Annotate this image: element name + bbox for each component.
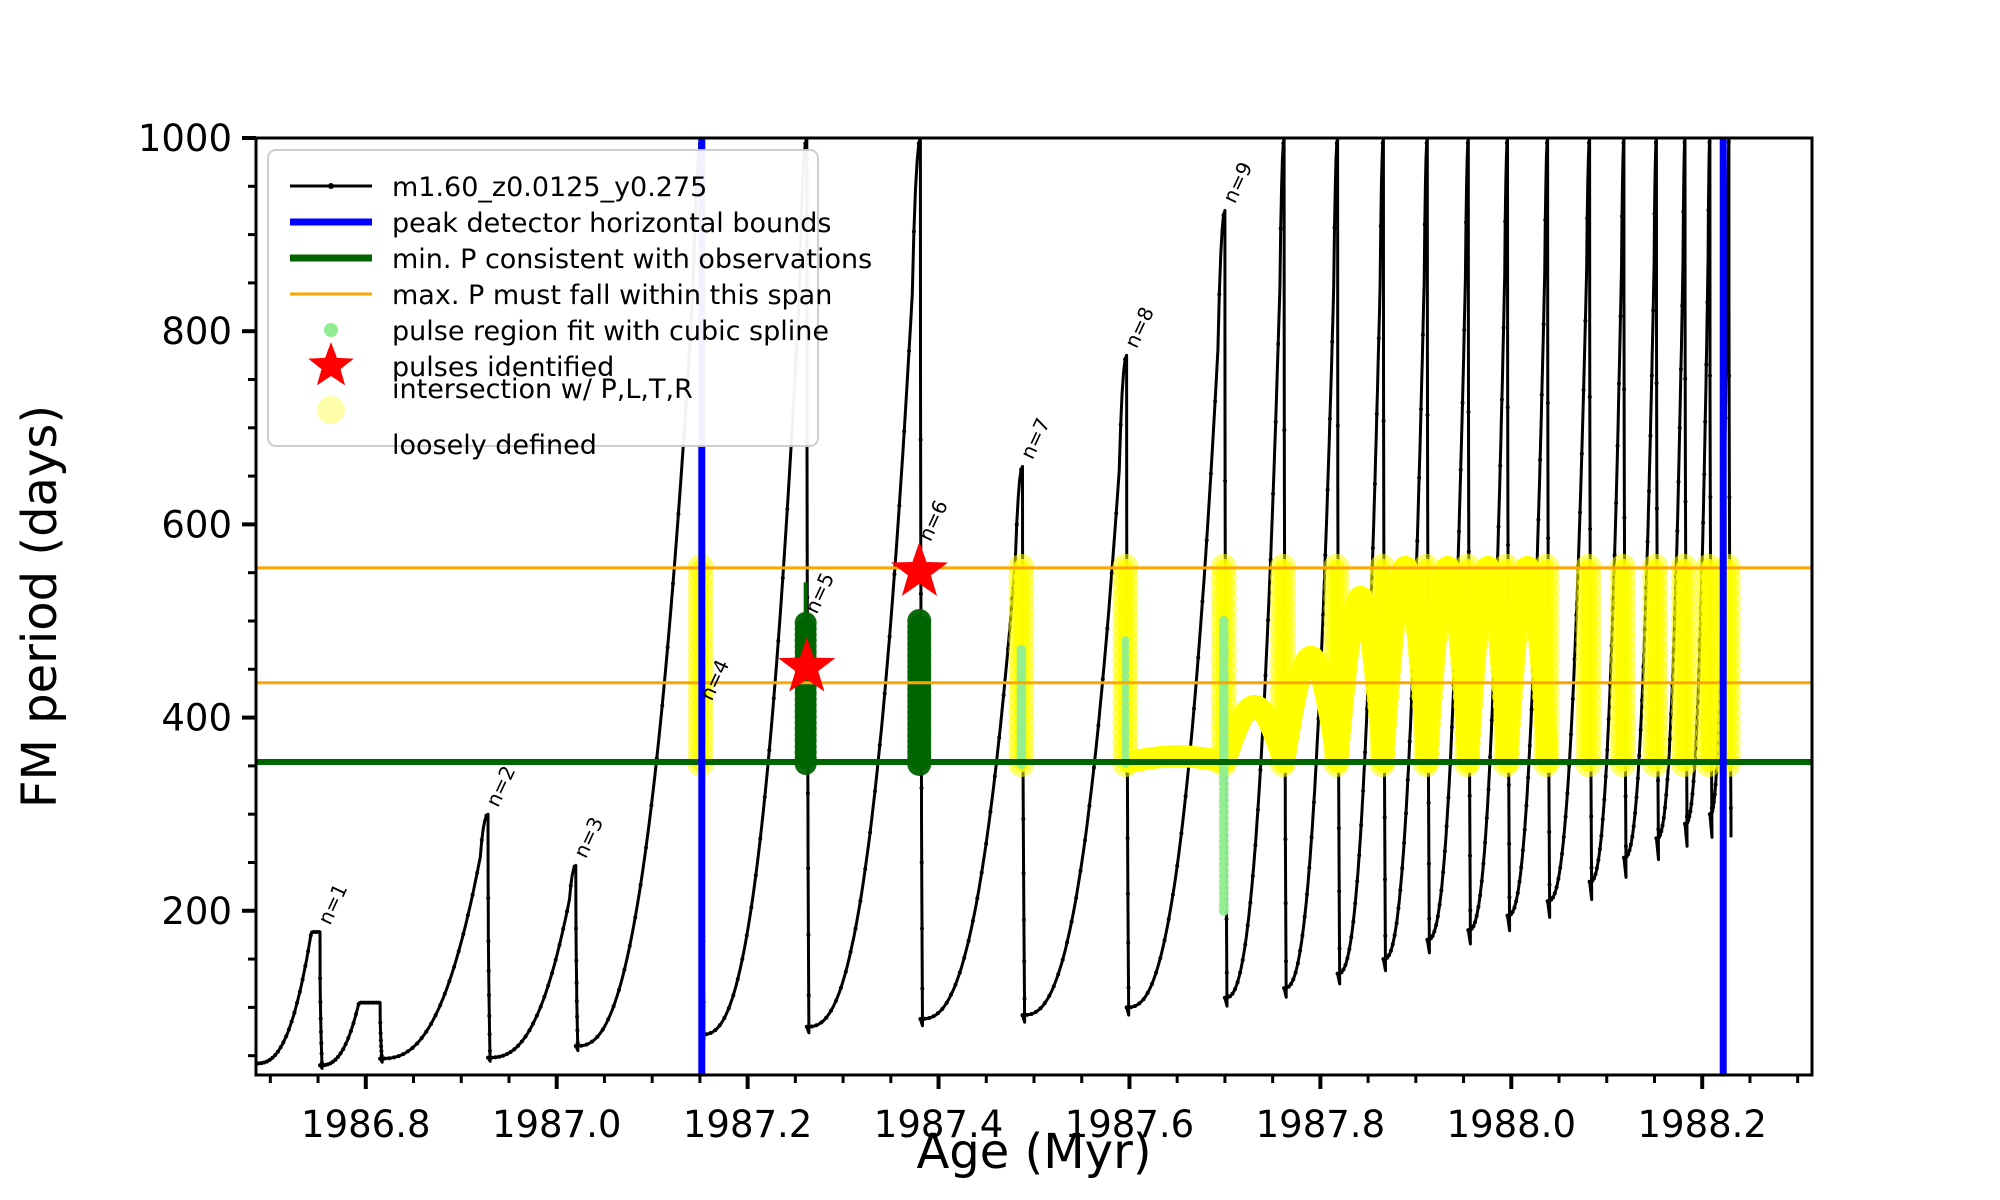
x-tick-label: 1987.0 <box>492 1103 621 1146</box>
x-tick-label: 1987.8 <box>1256 1103 1385 1146</box>
x-axis-title: Age (Myr) <box>916 1124 1151 1180</box>
y-tick-label: 1000 <box>138 117 232 160</box>
legend-label: intersection w/ P,L,T,R <box>392 374 693 405</box>
x-tick-label: 1986.8 <box>301 1103 430 1146</box>
legend-label: m1.60_z0.0125_y0.275 <box>392 172 707 203</box>
legend-entry: pulse region fit with cubic spline <box>324 316 829 347</box>
legend-label: peak detector horizontal bounds <box>392 208 831 239</box>
y-tick-label: 800 <box>161 310 232 353</box>
figure-canvas: 1986.81987.01987.21987.41987.61987.81988… <box>0 0 2000 1200</box>
legend-label: min. P consistent with observations <box>392 244 872 275</box>
legend-label-line2: loosely defined <box>392 430 597 461</box>
chart-svg: 1986.81987.01987.21987.41987.61987.81988… <box>0 0 2000 1200</box>
y-tick-label: 600 <box>161 503 232 546</box>
y-axis: 2004006008001000 <box>138 117 256 1056</box>
x-tick-label: 1988.0 <box>1447 1103 1576 1146</box>
legend-label: max. P must fall within this span <box>392 280 832 311</box>
y-tick-label: 200 <box>161 890 232 933</box>
y-axis-title: FM period (days) <box>12 405 68 808</box>
x-tick-label: 1988.2 <box>1637 1103 1766 1146</box>
legend: m1.60_z0.0125_y0.275peak detector horizo… <box>268 150 872 461</box>
legend-label: pulse region fit with cubic spline <box>392 316 829 347</box>
y-tick-label: 400 <box>161 697 232 740</box>
x-tick-label: 1987.2 <box>683 1103 812 1146</box>
